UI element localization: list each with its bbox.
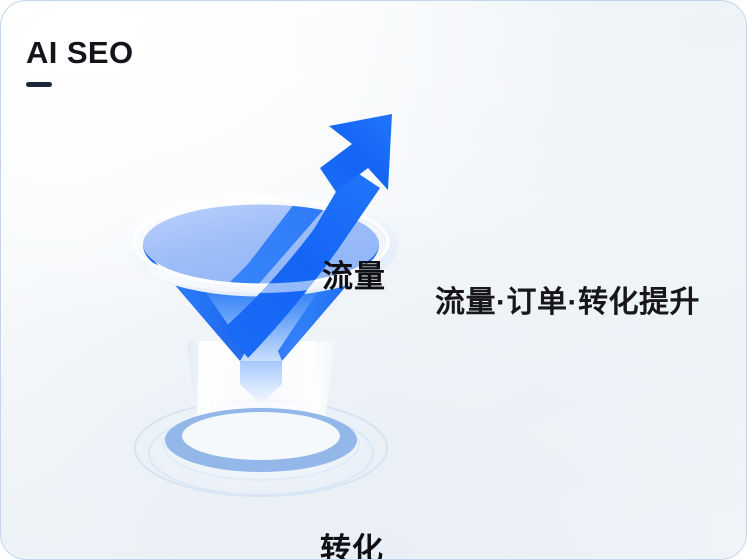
funnel-illustration: 流量 转化 [96,96,426,521]
base-ring-inner [182,412,340,460]
label-traffic: 流量 [322,251,386,296]
label-conversion: 转化 [320,524,384,560]
funnel-graphic [96,96,426,521]
tagline-text: 流量·订单·转化提升 [435,277,700,321]
slide-card: AI SEO [0,0,747,560]
page-title: AI SEO [26,37,133,68]
title-underline-rule [26,82,52,87]
title-block: AI SEO [26,37,133,87]
